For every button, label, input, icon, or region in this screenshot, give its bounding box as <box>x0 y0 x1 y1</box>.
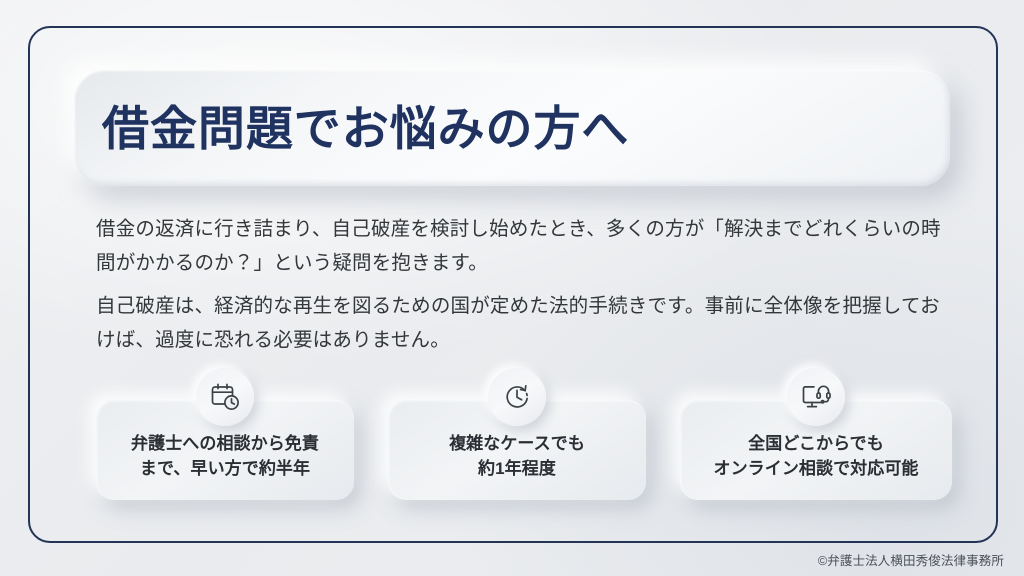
feature-card-label: 複雑なケースでも 約1年程度 <box>439 431 595 481</box>
body-paragraph-2: 自己破産は、経済的な再生を図るための国が定めた法的手続きです。事前に全体像を把握… <box>96 290 948 357</box>
page-title: 借金問題でお悩みの方へ <box>102 105 629 152</box>
feature-card-label: 全国どこからでも オンライン相談で対応可能 <box>703 431 928 481</box>
monitor-headset-icon <box>787 368 845 426</box>
feature-card-row: 弁護士への相談から免責 まで、早い方で約半年 複雑なケースでも 約1年程度 <box>96 388 952 500</box>
body-copy: 借金の返済に行き詰まり、自己破産を検討し始めたとき、多くの方が「解決までどれくら… <box>96 213 948 357</box>
body-paragraph-1: 借金の返済に行き詰まり、自己破産を検討し始めたとき、多くの方が「解決までどれくら… <box>96 213 948 280</box>
feature-card-duration-standard: 弁護士への相談から免責 まで、早い方で約半年 <box>96 400 354 500</box>
feature-card-label: 弁護士への相談から免責 まで、早い方で約半年 <box>121 431 329 481</box>
clock-arrow-icon <box>488 368 546 426</box>
feature-card-duration-complex: 複雑なケースでも 約1年程度 <box>388 400 646 500</box>
copyright-footer: ©弁護士法人横田秀俊法律事務所 <box>818 550 1004 569</box>
calendar-clock-icon <box>196 368 254 426</box>
slide-root: 借金問題でお悩みの方へ 借金の返済に行き詰まり、自己破産を検討し始めたとき、多く… <box>0 0 1024 576</box>
title-banner: 借金問題でお悩みの方へ <box>74 70 950 186</box>
feature-card-online-consultation: 全国どこからでも オンライン相談で対応可能 <box>680 400 952 500</box>
